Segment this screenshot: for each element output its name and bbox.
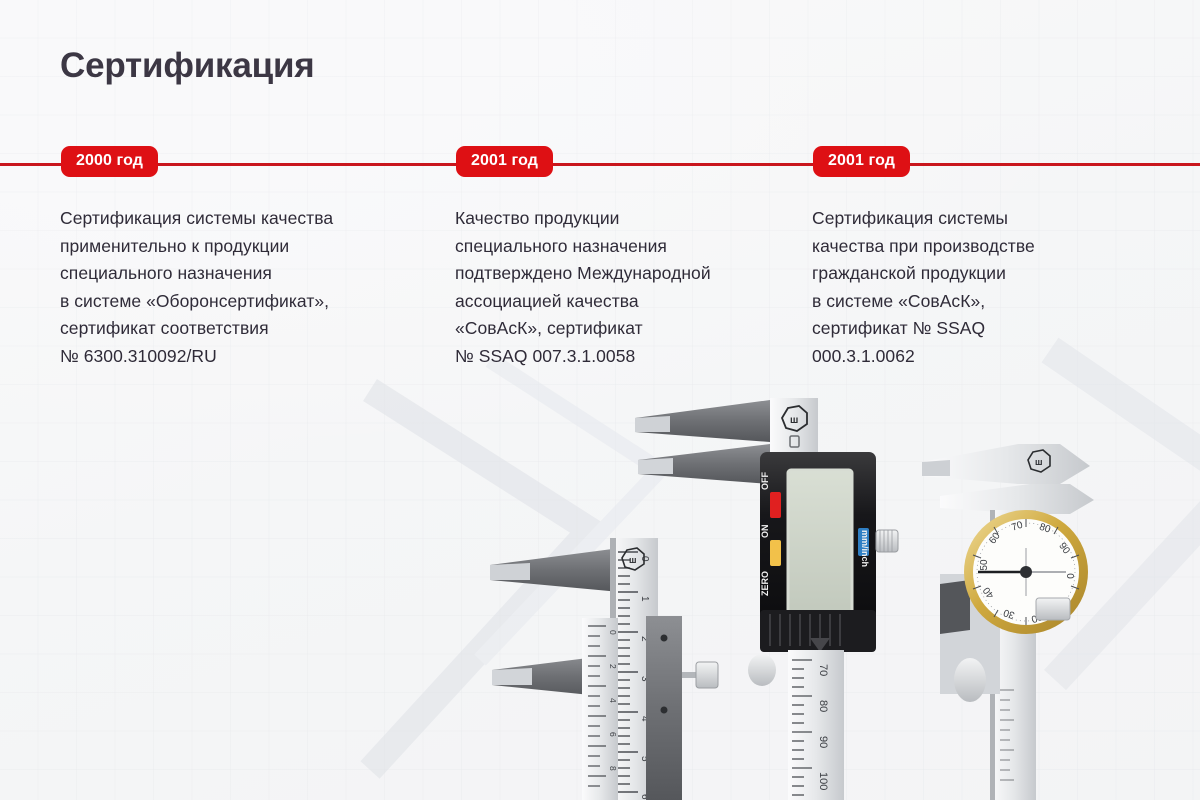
timeline-entry-body-2: Качество продукции специального назначен… <box>455 205 810 370</box>
background-wash <box>0 0 1200 800</box>
page-title: Сертификация <box>60 46 315 86</box>
timeline-rule <box>0 163 1200 166</box>
year-badge-2001-b: 2001 год <box>813 146 910 177</box>
timeline-entry-body-1: Сертификация системы качества применител… <box>60 205 440 370</box>
year-badge-2000: 2000 год <box>61 146 158 177</box>
timeline-entry-body-3: Сертификация системы качества при произв… <box>812 205 1162 370</box>
year-badge-2001-a: 2001 год <box>456 146 553 177</box>
